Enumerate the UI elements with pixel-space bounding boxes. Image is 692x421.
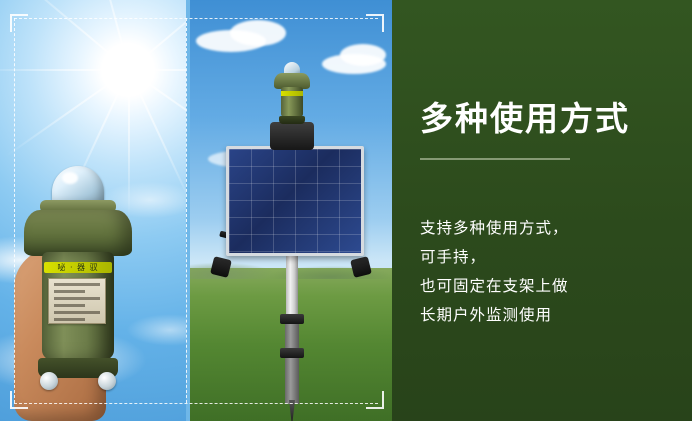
cloud-shape (340, 44, 386, 66)
device-brand-text: 咇 · 器 驭 (46, 261, 110, 274)
pole-head-bracket (270, 122, 314, 150)
spec-label-line (54, 318, 85, 321)
sun-ray-icon (0, 69, 129, 71)
corner-mark-icon (366, 14, 384, 32)
headline-divider (420, 158, 570, 160)
device-shield-skirt (24, 210, 132, 256)
sun-ray-icon (129, 69, 186, 71)
device-foot-knob (98, 372, 116, 390)
spec-label-line (54, 297, 100, 300)
device-base (279, 116, 305, 124)
pole-mounted-weather-device (274, 62, 310, 126)
pole-clamp (280, 314, 304, 324)
dashed-divider-bottom (14, 403, 378, 404)
mounting-pole-lower (285, 318, 299, 404)
photo-handheld-device: 咇 · 器 驭 (0, 0, 186, 421)
text-panel: 多种使用方式 支持多种使用方式， 可手持， 也可固定在支架上做 长期户外监测使用 (392, 0, 692, 421)
dashed-divider-vertical (186, 18, 187, 403)
spec-label-line (54, 283, 100, 286)
photo-pole-mounted-station (190, 0, 392, 421)
description-line-4: 长期户外监测使用 (420, 301, 672, 330)
spec-label-line (54, 290, 85, 293)
description-line-3: 也可固定在支架上做 (420, 272, 672, 301)
device-foot-knob (40, 372, 58, 390)
product-photo-collage: 咇 · 器 驭 (0, 0, 392, 421)
description-line-1: 支持多种使用方式， (420, 214, 672, 243)
description-line-2: 可手持， (420, 243, 672, 272)
product-banner: 咇 · 器 驭 (0, 0, 692, 421)
solar-panel (226, 146, 364, 256)
device-brand-stripe (281, 91, 303, 96)
corner-mark-icon (10, 391, 28, 409)
corner-mark-icon (366, 391, 384, 409)
description-block: 支持多种使用方式， 可手持， 也可固定在支架上做 长期户外监测使用 (420, 214, 672, 330)
dome-highlight (62, 172, 78, 184)
dashed-divider-left (14, 18, 15, 403)
handheld-weather-device: 咇 · 器 驭 (22, 166, 134, 392)
headline: 多种使用方式 (420, 92, 630, 140)
spec-label-line (54, 304, 85, 307)
spec-label-line (54, 311, 100, 314)
dashed-divider-top (14, 18, 378, 19)
cloud-shape (230, 20, 286, 46)
pole-clamp (280, 348, 304, 358)
corner-mark-icon (10, 14, 28, 32)
device-spec-label (48, 278, 106, 324)
